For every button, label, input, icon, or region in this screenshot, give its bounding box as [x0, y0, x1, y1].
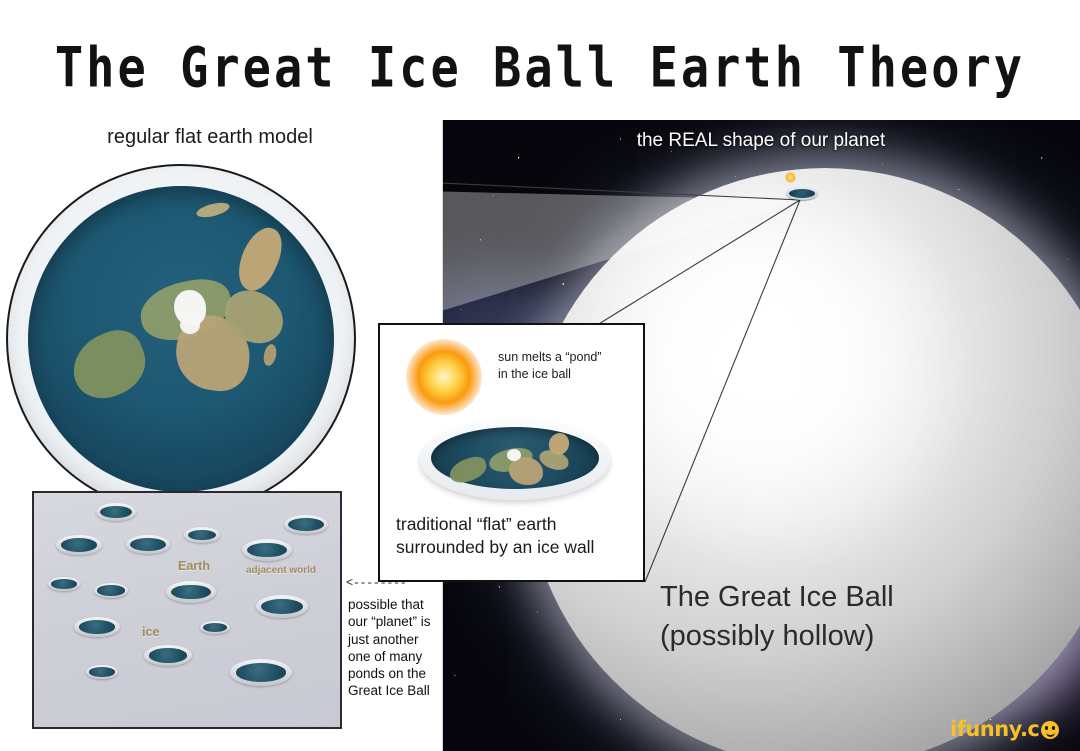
ball-caption-line-1: The Great Ice Ball	[660, 578, 894, 617]
pond-water	[97, 585, 124, 595]
pond-11	[74, 617, 120, 637]
mini-sun-icon	[785, 172, 796, 183]
landmass-ice-patch	[180, 316, 200, 334]
flat-earth-disc	[6, 164, 356, 514]
pond-water	[149, 648, 187, 662]
landmass-madagascar	[262, 343, 278, 367]
pond-water	[203, 623, 227, 632]
pond-13	[144, 645, 192, 666]
flat-earth-ocean	[28, 186, 334, 492]
pond-4	[56, 535, 102, 555]
pond-water	[288, 518, 323, 531]
pond-water	[51, 579, 77, 589]
pond-water	[100, 506, 132, 518]
landmass-island-north	[195, 200, 231, 220]
pond-2	[284, 515, 328, 534]
ball-caption: The Great Ice Ball (possibly hollow)	[660, 578, 894, 655]
pond-note-text: possible that our “planet” is just anoth…	[348, 596, 440, 700]
inset-panel: sun melts a “pond” in the ice ball tradi…	[378, 323, 645, 582]
pond-water	[89, 667, 115, 677]
pond-6	[242, 539, 292, 561]
flat-earth-caption: traditional “flat” earth surrounded by a…	[396, 513, 594, 559]
pond-7	[48, 577, 80, 591]
landmass-australia	[230, 222, 290, 297]
page-title: The Great Ice Ball Earth Theory	[0, 36, 1080, 101]
pond-water	[130, 538, 165, 551]
landmass-south-america	[63, 322, 155, 407]
pond-note-arrow: <--------	[346, 576, 406, 590]
flat-earth-model-label: regular flat earth model	[0, 126, 420, 149]
inset-flat-earth-disc	[420, 420, 610, 500]
ball-caption-line-2: (possibly hollow)	[660, 617, 894, 656]
pond-8	[94, 583, 128, 598]
pond-5	[126, 535, 170, 554]
sun-caption: sun melts a “pond” in the ice ball	[498, 349, 602, 383]
inset-ocean	[431, 427, 599, 489]
pond-label-earth: Earth	[178, 559, 210, 573]
pond-label-ice: ice	[142, 625, 159, 639]
sun-caption-line-2: in the ice ball	[498, 366, 602, 383]
sun-icon	[406, 339, 482, 415]
pond-1	[96, 503, 136, 521]
pond-10	[256, 595, 308, 618]
pond-12	[200, 621, 230, 634]
smiley-icon	[1041, 721, 1059, 739]
pond-on-ice-ball	[786, 186, 818, 200]
inset-landmass-ice	[507, 449, 521, 461]
pond-water	[236, 663, 286, 681]
pond-14	[86, 665, 118, 679]
pond-water	[789, 189, 815, 198]
inset-landmass-africa	[509, 457, 543, 485]
pond-water	[261, 599, 303, 615]
pond-water	[79, 620, 116, 634]
pond-15	[230, 659, 292, 686]
pond-water	[61, 538, 98, 552]
title-band: The Great Ice Ball Earth Theory	[0, 0, 1080, 120]
flat-caption-line-1: traditional “flat” earth	[396, 513, 594, 536]
ifunny-watermark: ifunny.c	[950, 719, 1059, 740]
flat-caption-line-2: surrounded by an ice wall	[396, 536, 594, 559]
watermark-text: ifunny.c	[950, 719, 1039, 740]
pond-label-adjacent-world: adjacent world	[246, 565, 316, 576]
meme-image: The Great Ice Ball Earth Theory the REAL…	[0, 0, 1080, 751]
many-ponds-panel: Earth ice adjacent world	[32, 491, 342, 729]
sun-caption-line-1: sun melts a “pond”	[498, 349, 602, 366]
real-shape-label: the REAL shape of our planet	[637, 130, 886, 151]
pond-3	[184, 527, 220, 543]
pond-9	[166, 581, 216, 603]
